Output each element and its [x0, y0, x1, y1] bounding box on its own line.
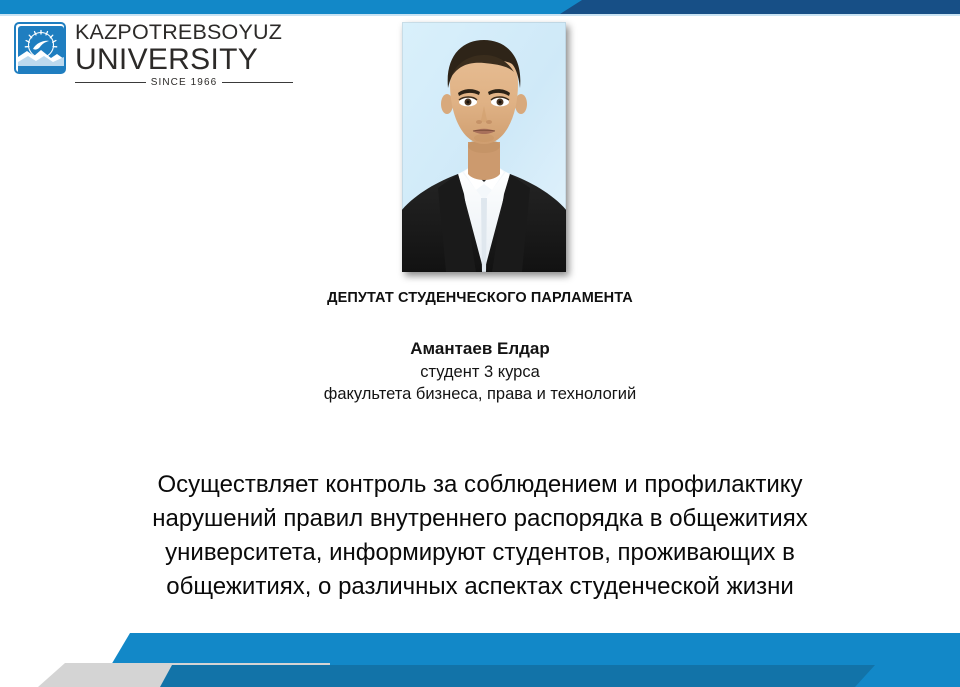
university-logo-text: KAZPOTREBSOYUZ UNIVERSITY SINCE 1966 [75, 22, 293, 88]
presentation-slide: KAZPOTREBSOYUZ UNIVERSITY SINCE 1966 [0, 0, 960, 687]
role-description: Осуществляет контроль за соблюдением и п… [120, 468, 840, 604]
top-bar-underline [0, 14, 960, 16]
role-title: ДЕПУТАТ СТУДЕНЧЕСКОГО ПАРЛАМЕНТА [0, 290, 960, 306]
logo-line-university: UNIVERSITY [75, 45, 293, 75]
logo-rule-right [222, 82, 293, 83]
person-course: студент 3 курса [0, 361, 960, 383]
university-logo: KAZPOTREBSOYUZ UNIVERSITY SINCE 1966 [14, 22, 293, 88]
top-bar-dark-segment [540, 0, 960, 14]
bottom-decorative-band [0, 617, 960, 687]
university-emblem-icon [14, 22, 66, 74]
student-portrait-photo [402, 22, 566, 272]
person-faculty: факультета бизнеса, права и технологий [0, 383, 960, 405]
logo-rule-left [75, 82, 146, 83]
logo-since-row: SINCE 1966 [75, 78, 293, 88]
person-name: Амантаев Елдар [0, 338, 960, 361]
top-decorative-bar [0, 0, 960, 14]
top-bar-light-segment [0, 0, 600, 14]
person-info-block: Амантаев Елдар студент 3 курса факультет… [0, 338, 960, 405]
logo-since-label: SINCE 1966 [146, 78, 223, 88]
logo-line-kazpotrebsoyuz: KAZPOTREBSOYUZ [75, 22, 293, 44]
